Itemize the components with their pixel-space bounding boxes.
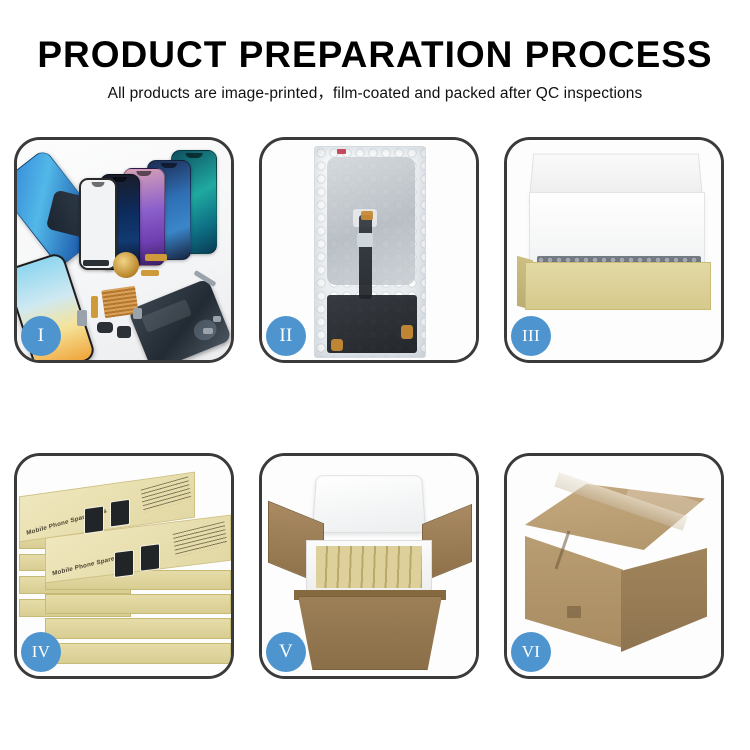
- spec-lines: [141, 476, 192, 513]
- gold-connector: [331, 339, 343, 351]
- stacked-box: [45, 618, 231, 639]
- screen-photo: [110, 499, 130, 528]
- small-part: [133, 308, 142, 319]
- carton-seam: [567, 606, 581, 618]
- carton-front-face: [525, 536, 623, 648]
- page-subtitle: All products are image-printed，film-coat…: [0, 83, 750, 105]
- gold-connector: [401, 325, 413, 339]
- red-tab: [337, 149, 346, 154]
- step-badge-1: I: [21, 316, 61, 356]
- speaker-module: [113, 252, 139, 278]
- screw-part: [203, 328, 213, 334]
- carton-body: [298, 596, 442, 670]
- step-badge-6: VI: [511, 632, 551, 672]
- page-title: PRODUCT PREPARATION PROCESS: [0, 34, 750, 76]
- step-panel-5[interactable]: V: [259, 453, 479, 679]
- ic-chip: [357, 233, 373, 247]
- process-step-grid: I II: [14, 137, 736, 679]
- step-panel-1[interactable]: I: [14, 137, 234, 363]
- kraft-box-tray: [525, 262, 711, 310]
- bubble-wrap-bag: [314, 146, 426, 358]
- step-panel-3[interactable]: III: [504, 137, 724, 363]
- screen-photo: [140, 543, 160, 571]
- notch: [92, 182, 105, 187]
- spec-lines: [173, 521, 228, 557]
- gold-connector: [361, 211, 373, 220]
- step-panel-4[interactable]: Mobile Phone Spare Parts Mobile Phone Sp…: [14, 453, 234, 679]
- screw-part: [213, 316, 221, 322]
- small-part: [83, 260, 109, 266]
- notch: [186, 153, 203, 158]
- step-panel-2[interactable]: II: [259, 137, 479, 363]
- small-part: [77, 310, 87, 326]
- flex-cable-part: [91, 296, 98, 318]
- page-root: PRODUCT PREPARATION PROCESS All products…: [0, 0, 750, 750]
- packed-yellow-boxes: [316, 546, 422, 588]
- step-badge-4: IV: [21, 632, 61, 672]
- step-badge-5: V: [266, 632, 306, 672]
- small-part: [117, 326, 131, 338]
- flex-cable: [359, 215, 372, 299]
- notch: [161, 163, 177, 168]
- screen-photo: [84, 505, 104, 534]
- flex-cable-part: [141, 270, 159, 276]
- screen-photo: [114, 549, 134, 577]
- carton-side-face: [621, 548, 707, 652]
- step-badge-2: II: [266, 316, 306, 356]
- phone-screen-glass: [79, 178, 117, 270]
- foam-lid: [312, 475, 426, 533]
- stacked-box: [45, 643, 231, 664]
- flex-cable-part: [145, 254, 167, 261]
- step-badge-3: III: [511, 316, 551, 356]
- stacked-box: [45, 594, 231, 614]
- header: PRODUCT PREPARATION PROCESS All products…: [0, 0, 750, 105]
- notch: [136, 171, 151, 176]
- step-panel-6[interactable]: VI: [504, 453, 724, 679]
- small-part: [97, 322, 113, 333]
